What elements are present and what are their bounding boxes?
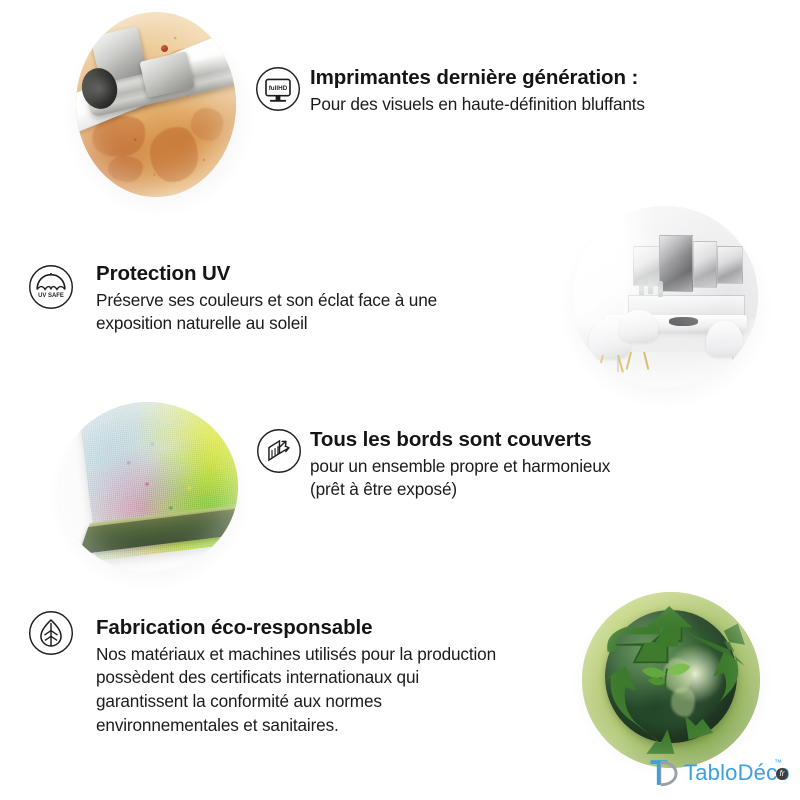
feature-printers-title: Imprimantes dernière génération : bbox=[310, 66, 730, 90]
covered-edges-icon bbox=[256, 428, 302, 474]
fullhd-monitor-icon: fullHD bbox=[255, 66, 301, 112]
feature-uv-description-line-2: exposition naturelle au soleil bbox=[96, 312, 526, 336]
green-earth-recycle-photo bbox=[582, 592, 760, 768]
feature-edges-description-line-1: pour un ensemble propre et harmonieux bbox=[310, 455, 740, 479]
feature-edges-title: Tous les bords sont couverts bbox=[310, 428, 740, 452]
feature-uv-title: Protection UV bbox=[96, 262, 526, 286]
feature-edges-description-line-2: (prêt à être exposé) bbox=[310, 478, 740, 502]
printer-world-map-photo bbox=[76, 12, 236, 197]
uv-safe-umbrella-icon: UV SAFE bbox=[28, 264, 74, 310]
leaf-icon bbox=[28, 610, 74, 656]
feature-eco-description-line-4: environnementales et sanitaires. bbox=[96, 714, 596, 738]
feature-printers-description: Pour des visuels en haute-définition blu… bbox=[310, 93, 730, 117]
feature-uv-description-line-1: Préserve ses couleurs et son éclat face … bbox=[96, 289, 526, 313]
svg-text:UV SAFE: UV SAFE bbox=[38, 293, 64, 299]
brand-logo[interactable]: TabloDéco ™ fr bbox=[648, 756, 790, 794]
feature-eco-description-line-1: Nos matériaux et machines utilisés pour … bbox=[96, 643, 596, 667]
feature-uv-text: Protection UV Préserve ses couleurs et s… bbox=[96, 262, 526, 336]
bright-dining-room-photo bbox=[572, 206, 758, 388]
feature-edges-text: Tous les bords sont couverts pour un ens… bbox=[310, 428, 740, 502]
canvas-corner-photo bbox=[58, 402, 238, 572]
logo-locale-badge: fr bbox=[776, 768, 788, 780]
feature-eco-description-line-3: garantissent la conformité aux normes bbox=[96, 690, 596, 714]
td-monogram-icon bbox=[648, 756, 682, 790]
feature-eco-description-line-2: possèdent des certificats internationaux… bbox=[96, 666, 596, 690]
feature-printers-text: Imprimantes dernière génération : Pour d… bbox=[310, 66, 730, 116]
trademark-symbol: ™ bbox=[774, 758, 782, 767]
feature-eco-text: Fabrication éco-responsable Nos matériau… bbox=[96, 616, 596, 738]
feature-infographic-page: fullHD Imprimantes dernière génération :… bbox=[0, 0, 800, 800]
feature-eco-title: Fabrication éco-responsable bbox=[96, 616, 596, 640]
svg-text:fullHD: fullHD bbox=[269, 85, 288, 92]
